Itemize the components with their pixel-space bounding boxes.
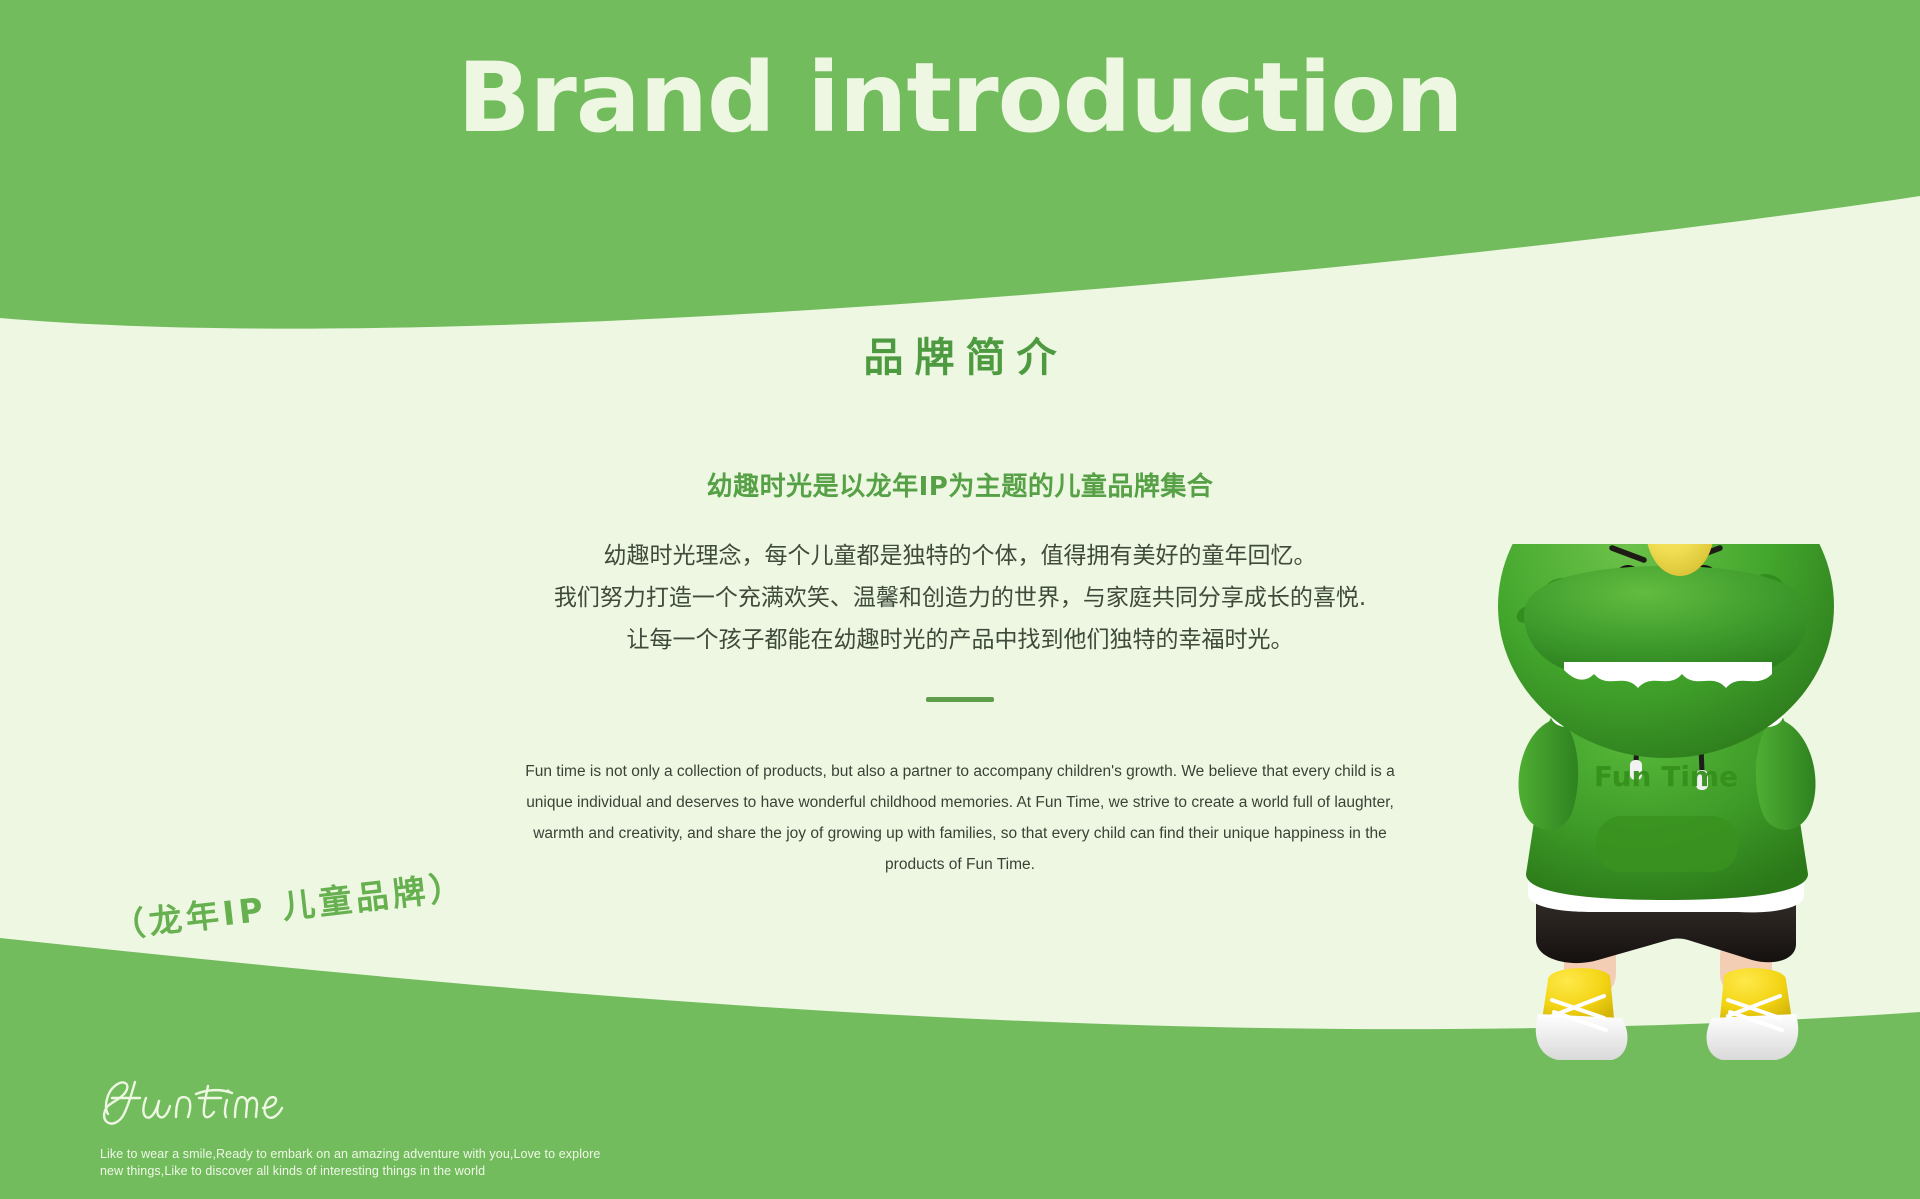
mascot-dinosaur-child: Fun Time bbox=[1452, 544, 1912, 1184]
tagline-line: Like to wear a smile,Ready to embark on … bbox=[100, 1146, 600, 1163]
slide-root: Brand introduction 品牌简介 幼趣时光是以龙年IP为主题的儿童… bbox=[0, 0, 1920, 1199]
mascot-shoes bbox=[1536, 968, 1798, 1060]
section-divider bbox=[926, 697, 994, 702]
mascot-hoodie-pocket bbox=[1596, 816, 1738, 872]
body-paragraph-en: Fun time is not only a collection of pro… bbox=[510, 756, 1410, 880]
brand-tagline: Like to wear a smile,Ready to embark on … bbox=[100, 1146, 600, 1180]
tagline-line: new things,Like to discover all kinds of… bbox=[100, 1163, 600, 1180]
lead-statement: 幼趣时光是以龙年IP为主题的儿童品牌集合 bbox=[0, 466, 1920, 503]
mascot-hood-brim bbox=[1524, 566, 1808, 674]
page-header: Brand introduction bbox=[0, 48, 1920, 149]
section-heading: 品牌简介 bbox=[0, 325, 1920, 383]
brand-logo: Like to wear a smile,Ready to embark on … bbox=[96, 1068, 600, 1180]
mascot-hoodie-text: Fun Time bbox=[1594, 760, 1738, 793]
fun-time-script-wordmark bbox=[96, 1068, 296, 1136]
page-title: Brand introduction bbox=[0, 48, 1920, 149]
